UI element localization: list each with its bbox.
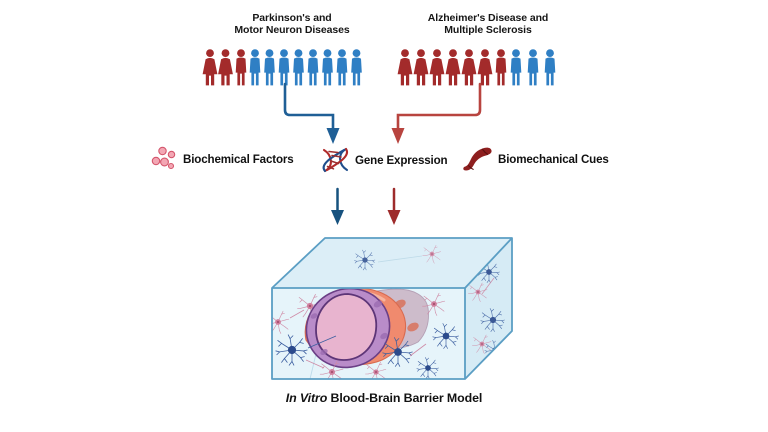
blue-elbow-arrow-line: [285, 84, 333, 130]
model-input-arrows: [325, 188, 415, 230]
red-down-arrow-head: [388, 210, 401, 225]
factor-biochemical-label: Biochemical Factors: [183, 153, 294, 166]
caption-italic-text: In Vitro: [286, 391, 327, 405]
factor-biochemical-factors: Biochemical Factors: [150, 145, 294, 173]
diagram-canvas: Parkinson's and Motor Neuron Diseases Al…: [0, 0, 768, 432]
blue-elbow-arrow-head: [327, 128, 340, 144]
factor-gene-expression-label: Gene Expression: [355, 154, 447, 167]
caption-rest-text: Blood-Brain Barrier Model: [327, 391, 482, 405]
disease-group-1-label: Parkinson's and Motor Neuron Diseases: [196, 12, 388, 37]
red-elbow-arrow-head: [392, 128, 405, 144]
factor-biomechanical-cues: Biomechanical Cues: [461, 145, 609, 173]
blue-down-arrow-head: [331, 210, 344, 225]
dna-helix-icon: [320, 145, 352, 175]
red-elbow-arrow-line: [398, 84, 480, 130]
blood-brain-barrier-cube: [250, 232, 515, 390]
factor-gene-expression: Gene Expression: [320, 145, 447, 175]
model-caption: In Vitro Blood-Brain Barrier Model: [184, 391, 584, 405]
muscle-fiber-icon: [461, 145, 495, 173]
molecule-dots-icon: [150, 145, 180, 173]
disease-group-2-label: Alzheimer's Disease and Multiple Scleros…: [392, 12, 584, 37]
convergence-arrows: [255, 82, 525, 150]
factor-biomechanical-label: Biomechanical Cues: [498, 153, 609, 166]
